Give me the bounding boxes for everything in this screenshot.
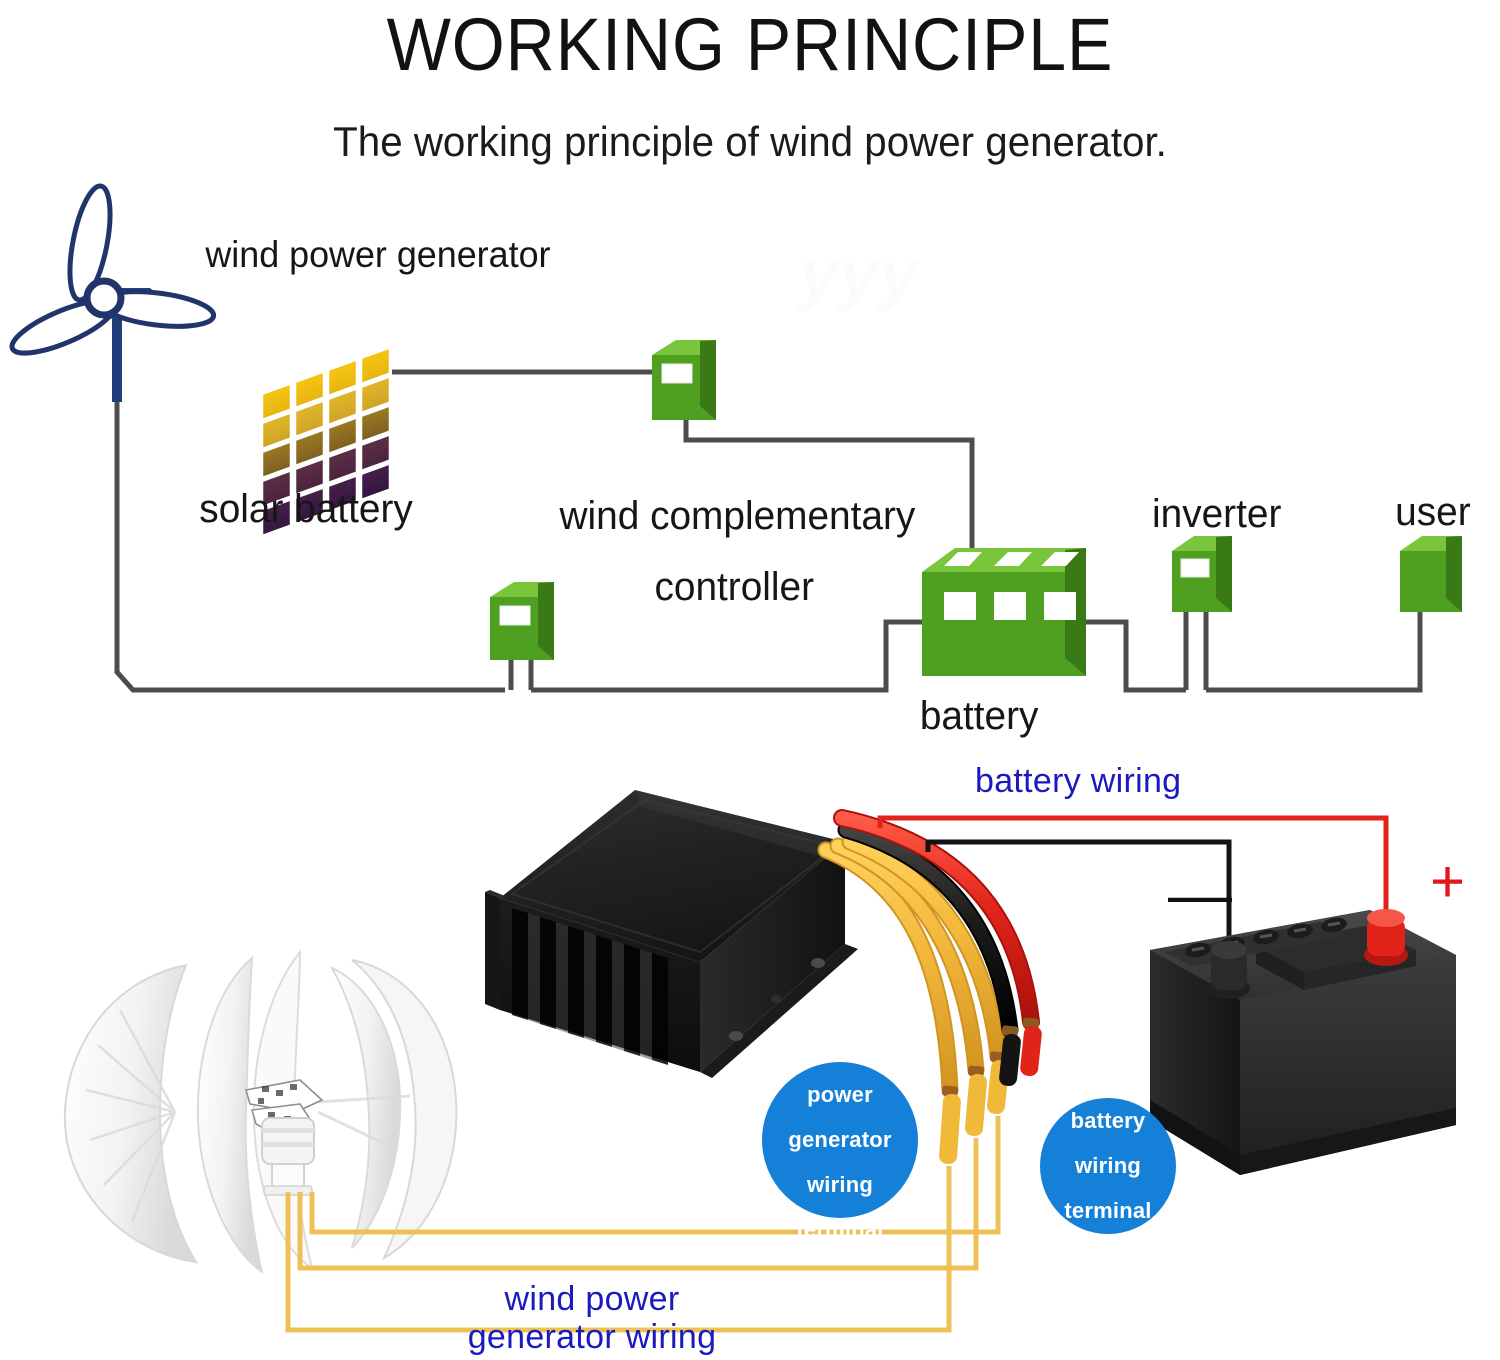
working-principle-page: WORKING PRINCIPLE The working principle … [0,0,1500,1360]
callout-generator-terminal: wind power generator wiring terminal [762,1062,918,1218]
callout-gen-line-0: wind [784,1039,895,1061]
label-generator-wiring-line1: wind power [432,1280,752,1318]
vertical-axis-turbine-icon [65,952,456,1272]
label-generator-wiring: wind power generator wiring [432,1280,752,1356]
callout-battery-terminal: battery wiring terminal [1040,1098,1176,1234]
callout-batt-line-2: terminal [1060,1200,1155,1222]
callout-gen-line-3: wiring [784,1174,895,1196]
positive-sign-mark: + [1430,852,1465,912]
negative-sign-mark: — [1168,862,1232,926]
callout-batt-line-1: wiring [1060,1155,1155,1177]
hardware-wiring-photo [0,0,1500,1360]
charge-controller-device [485,790,858,1078]
callout-batt-line-0: battery [1060,1110,1155,1132]
label-generator-wiring-line2: generator wiring [432,1318,752,1356]
car-battery-device [1150,909,1456,1175]
battery-positive-terminal [1364,909,1408,966]
callout-gen-line-4: terminal [784,1219,895,1241]
battery-negative-terminal [1208,941,1250,999]
callout-gen-line-1: power [784,1084,895,1106]
callout-gen-line-2: generator [784,1129,895,1151]
label-battery-wiring: battery wiring [975,762,1181,801]
